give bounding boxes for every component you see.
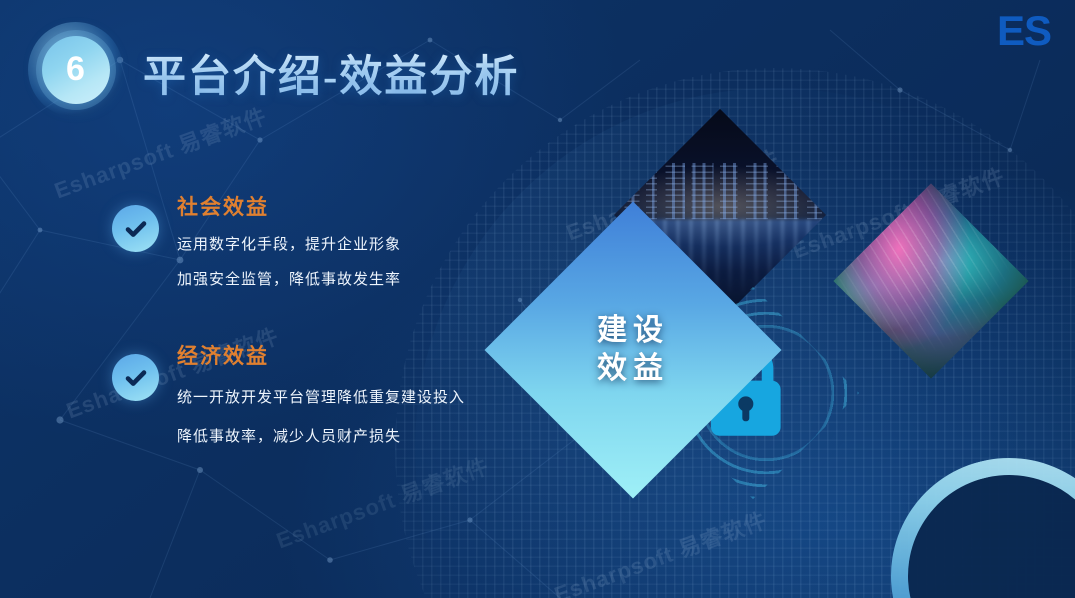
section-number: 6 [66, 52, 85, 88]
slide-root: Esharpsoft 易睿软件 Esharpsoft 易睿软件 Esharpso… [0, 0, 1075, 598]
check-mark-icon [123, 216, 149, 242]
benefit-text-group: 经济效益 统一开放开发平台管理降低重复建设投入 降低事故率，减少人员财产损失 [177, 345, 465, 445]
benefit-line: 加强安全监管，降低事故发生率 [177, 272, 401, 289]
section-number-badge: 6 [28, 22, 123, 117]
section-number-badge-inner: 6 [42, 36, 110, 104]
benefit-line: 降低事故率，减少人员财产损失 [177, 429, 465, 446]
benefit-heading: 社会效益 [177, 196, 401, 219]
benefit-heading: 经济效益 [177, 345, 465, 368]
check-circle-icon [112, 354, 159, 401]
diamond-label: 建设 效益 [528, 245, 738, 455]
check-circle-icon [112, 205, 159, 252]
benefit-line: 运用数字化手段，提升企业形象 [177, 237, 401, 254]
benefit-block-social: 社会效益 运用数字化手段，提升企业形象 加强安全监管，降低事故发生率 [112, 196, 401, 288]
benefit-text-group: 社会效益 运用数字化手段，提升企业形象 加强安全监管，降低事故发生率 [177, 196, 401, 288]
page-title: 平台介绍-效益分析 [143, 42, 519, 104]
benefit-block-economic: 经济效益 统一开放开发平台管理降低重复建设投入 降低事故率，减少人员财产损失 [112, 345, 465, 445]
diamond-label-line2: 效益 [597, 350, 669, 388]
es-logo: ES [997, 10, 1051, 52]
check-mark-icon [123, 365, 149, 391]
diamond-label-line1: 建设 [597, 312, 669, 350]
benefit-line: 统一开放开发平台管理降低重复建设投入 [177, 390, 465, 407]
